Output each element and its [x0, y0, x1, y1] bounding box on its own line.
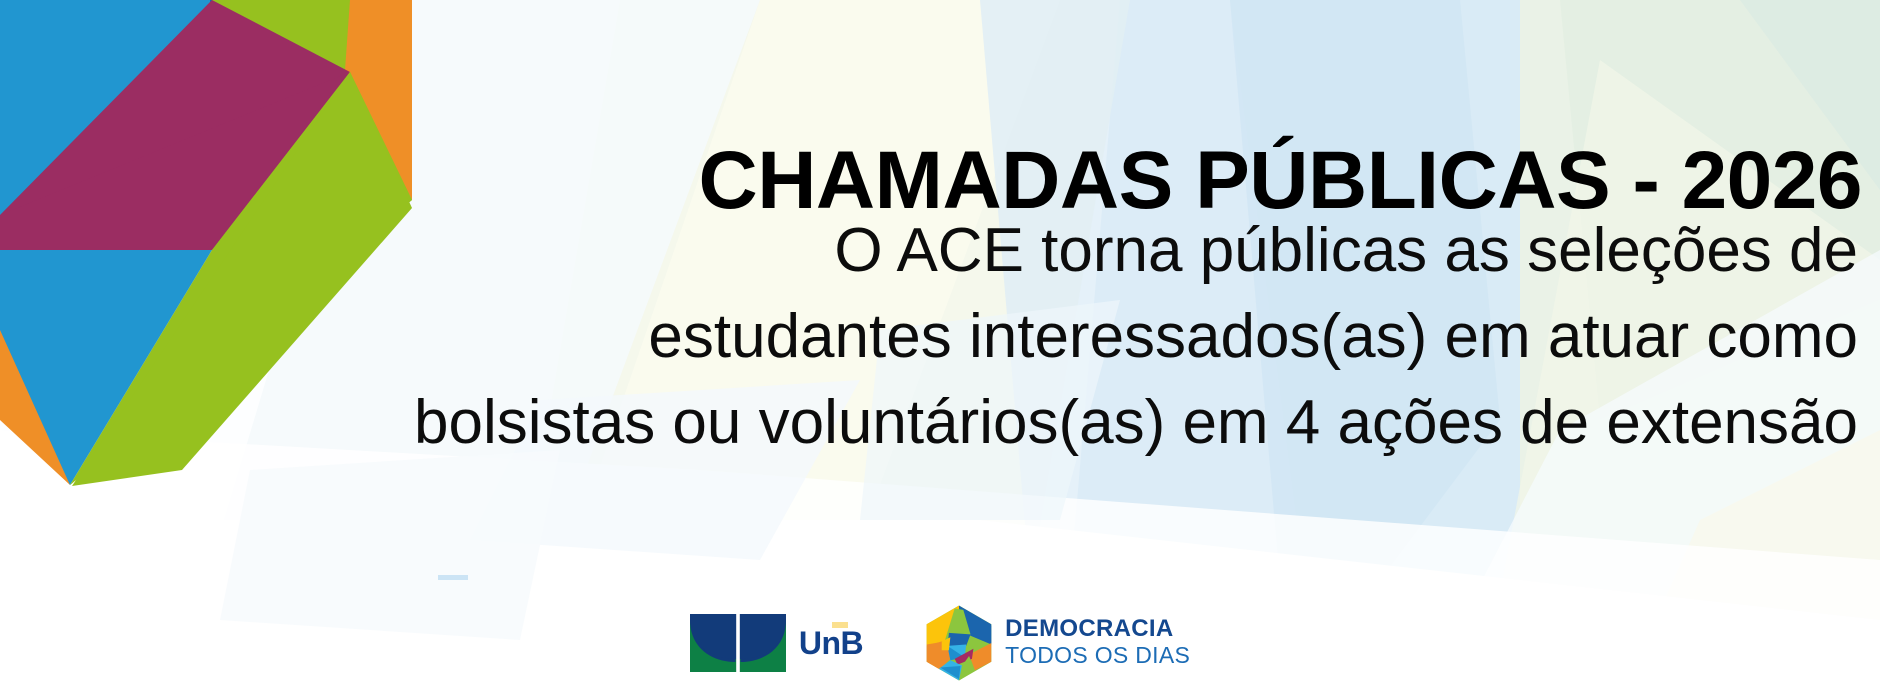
democracia-subtitle: TODOS OS DIAS [1005, 642, 1190, 669]
logo-row: UnB [0, 608, 1880, 678]
democracia-logo: DEMOCRACIA TODOS OS DIAS [923, 604, 1190, 682]
democracia-hexagon-icon [923, 604, 995, 682]
chamadas-publicas-banner: CHAMADAS PÚBLICAS - 2026 O ACE torna púb… [0, 0, 1880, 700]
unb-emblem-icon [690, 614, 786, 672]
body-line-2: estudantes interessados(as) em atuar com… [0, 294, 1858, 380]
democracia-title: DEMOCRACIA [1005, 616, 1190, 642]
body-line-1: O ACE torna públicas as seleções de [0, 208, 1858, 294]
democracia-wordmark: DEMOCRACIA TODOS OS DIAS [1005, 616, 1190, 669]
unb-wordmark: UnB [799, 627, 863, 659]
body-line-3: bolsistas ou voluntários(as) em 4 ações … [0, 380, 1858, 466]
banner-body: O ACE torna públicas as seleções de estu… [0, 208, 1880, 466]
unb-logo: UnB [690, 614, 863, 672]
